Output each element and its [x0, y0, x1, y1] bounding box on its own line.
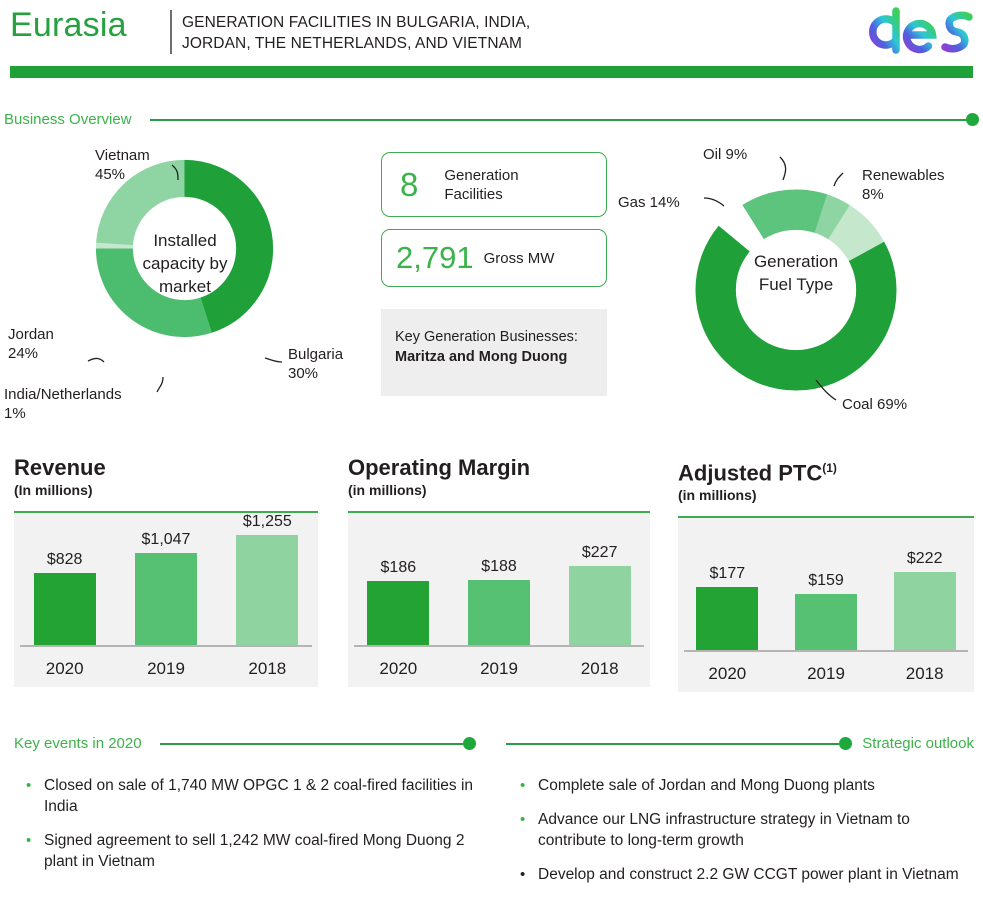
donut-capacity-label-bulgaria: Bulgaria 30% [288, 345, 343, 383]
section-rule [160, 743, 463, 745]
label-pct-india-netherlands: 1% [4, 405, 26, 422]
bar-col-2020: $186 [348, 515, 449, 645]
list-item-text: Signed agreement to sell 1,242 MW coal-f… [44, 830, 476, 872]
center-line-3: market [110, 275, 260, 298]
center-line-2: capacity by [110, 252, 260, 275]
key-generation-businesses-box: Key Generation Businesses: Maritza and M… [381, 309, 607, 396]
subtitle-line-1: GENERATION FACILITIES IN BULGARIA, INDIA… [182, 12, 530, 33]
bullet-icon: • [520, 809, 538, 851]
section-header-business-overview: Business Overview [4, 111, 979, 128]
list-item-text: Develop and construct 2.2 GW CCGT power … [538, 864, 959, 885]
bar-value-2019: $159 [808, 572, 844, 590]
x-axis-labels: 2020 2019 2018 [14, 659, 318, 679]
donut-capacity-center-label: Installed capacity by market [110, 229, 260, 298]
slide-root: Eurasia GENERATION FACILITIES IN BULGARI… [0, 0, 983, 910]
label-name-renewables: Renewables [862, 167, 945, 184]
list-item-text: Closed on sale of 1,740 MW OPGC 1 & 2 co… [44, 775, 476, 817]
bar-col-2018: $222 [875, 520, 974, 650]
bullet-icon: • [26, 830, 44, 872]
x-label-2020: 2020 [14, 659, 115, 679]
bar-col-2019: $188 [449, 515, 550, 645]
bar-value-2020: $177 [710, 565, 746, 583]
list-item: • Develop and construct 2.2 GW CCGT powe… [520, 864, 980, 885]
chart-title-text: Adjusted PTC [678, 460, 822, 485]
center-line-1: Generation [712, 250, 880, 273]
center-line-1: Installed [110, 229, 260, 252]
chart-subtitle-operating-margin: (in millions) [348, 482, 650, 498]
bullet-icon: • [26, 775, 44, 817]
x-label-2018: 2018 [549, 659, 650, 679]
bar-value-2018: $222 [907, 550, 943, 568]
bar-2020 [696, 587, 758, 650]
bar-chart-revenue: Revenue (In millions) $828 $1,047 $1,255 [14, 455, 318, 687]
bar-2020 [367, 581, 429, 645]
label-pct-bulgaria: 30% [288, 365, 318, 382]
bar-2020 [34, 573, 96, 645]
bar-value-2020: $828 [47, 551, 83, 569]
chart-subtitle-revenue: (In millions) [14, 482, 318, 498]
list-item: • Advance our LNG infrastructure strateg… [520, 809, 980, 851]
section-header-key-events: Key events in 2020 [14, 735, 476, 752]
bar-value-2018: $227 [582, 544, 618, 562]
bar-2019 [795, 594, 857, 650]
key-businesses-names: Maritza and Mong Duong [395, 349, 567, 365]
label-name-jordan: Jordan [8, 326, 54, 343]
x-label-2020: 2020 [678, 664, 777, 684]
section-label: Strategic outlook [862, 735, 974, 752]
donut-fuel-label-coal: Coal 69% [842, 395, 907, 414]
center-line-2: Fuel Type [712, 273, 880, 296]
page-title: Eurasia [10, 6, 127, 45]
key-events-list: • Closed on sale of 1,740 MW OPGC 1 & 2 … [26, 775, 476, 885]
bar-col-2018: $227 [549, 515, 650, 645]
bar-col-2018: $1,255 [217, 515, 318, 645]
x-label-2019: 2019 [115, 659, 216, 679]
bar-2018 [894, 572, 956, 650]
chart-title-footnote-marker: (1) [822, 461, 837, 475]
key-businesses-prefix: Key Generation Businesses: [395, 329, 578, 345]
label-name-india-netherlands: India/Netherlands [4, 386, 122, 403]
section-rule [506, 743, 839, 745]
label-name-vietnam: Vietnam [95, 147, 150, 164]
x-axis-line [354, 645, 644, 647]
bar-chart-adjusted-ptc: Adjusted PTC(1) (in millions) $177 $159 … [678, 455, 974, 692]
header-accent-band [10, 66, 973, 78]
donut-fuel-label-gas: Gas 14% [618, 193, 680, 212]
label-pct-vietnam: 45% [95, 166, 125, 183]
kpi-gross-mw: 2,791 Gross MW [381, 229, 607, 287]
bullet-icon: • [520, 864, 538, 885]
bar-value-2020: $186 [381, 559, 417, 577]
list-item-text: Complete sale of Jordan and Mong Duong p… [538, 775, 875, 796]
donut-fuel-label-oil: Oil 9% [703, 145, 747, 164]
title-divider [170, 10, 172, 54]
bar-value-2019: $188 [481, 558, 517, 576]
donut-capacity-label-jordan: Jordan 24% [8, 325, 54, 363]
list-item: • Closed on sale of 1,740 MW OPGC 1 & 2 … [26, 775, 476, 817]
x-label-2018: 2018 [217, 659, 318, 679]
list-item: • Complete sale of Jordan and Mong Duong… [520, 775, 980, 796]
bar-col-2020: $828 [14, 515, 115, 645]
bar-2019 [468, 580, 530, 645]
bar-col-2020: $177 [678, 520, 777, 650]
section-end-dot-icon [463, 737, 476, 750]
kpi-facilities-value: 8 [400, 166, 418, 204]
bar-value-2018: $1,255 [243, 513, 292, 531]
x-axis-labels: 2020 2019 2018 [678, 664, 974, 684]
chart-title-operating-margin: Operating Margin [348, 455, 650, 481]
bar-2019 [135, 553, 197, 645]
list-item: • Signed agreement to sell 1,242 MW coal… [26, 830, 476, 872]
x-label-2020: 2020 [348, 659, 449, 679]
kpi-facilities-label: Generation Facilities [444, 166, 518, 204]
chart-subtitle-adjusted-ptc: (in millions) [678, 487, 974, 503]
bar-chart-operating-margin: Operating Margin (in millions) $186 $188… [348, 455, 650, 687]
section-end-dot-icon [839, 737, 852, 750]
page-subtitle: GENERATION FACILITIES IN BULGARIA, INDIA… [182, 12, 530, 54]
donut-fuel-label-renewables: Renewables 8% [862, 166, 977, 204]
section-end-dot-icon [966, 113, 979, 126]
section-label: Business Overview [4, 111, 132, 128]
section-header-strategic-outlook: Strategic outlook [506, 735, 974, 752]
x-axis-labels: 2020 2019 2018 [348, 659, 650, 679]
label-name-bulgaria: Bulgaria [288, 346, 343, 363]
subtitle-line-2: JORDAN, THE NETHERLANDS, AND VIETNAM [182, 33, 530, 54]
chart-title-adjusted-ptc: Adjusted PTC(1) [678, 455, 974, 486]
bar-2018 [236, 535, 298, 645]
label-pct-renewables: 8% [862, 186, 884, 203]
x-axis-line [20, 645, 312, 647]
kpi-generation-facilities: 8 Generation Facilities [381, 152, 607, 217]
chart-title-revenue: Revenue [14, 455, 318, 481]
x-label-2019: 2019 [449, 659, 550, 679]
section-rule [150, 119, 966, 121]
list-item-text: Advance our LNG infrastructure strategy … [538, 809, 980, 851]
x-label-2018: 2018 [875, 664, 974, 684]
aes-logo-icon [865, 4, 975, 56]
plot-area-operating-margin: $186 $188 $227 2020 2019 2018 [348, 511, 650, 687]
bar-col-2019: $159 [777, 520, 876, 650]
x-label-2019: 2019 [777, 664, 876, 684]
donut-fuel-center-label: Generation Fuel Type [712, 250, 880, 296]
strategic-outlook-list: • Complete sale of Jordan and Mong Duong… [520, 775, 980, 898]
kpi-facilities-label-line1: Generation [444, 167, 518, 184]
kpi-gross-mw-label: Gross MW [484, 249, 555, 268]
x-axis-line [684, 650, 968, 652]
kpi-facilities-label-line2: Facilities [444, 186, 502, 203]
bar-col-2019: $1,047 [115, 515, 216, 645]
kpi-gross-mw-value: 2,791 [396, 240, 474, 276]
bullet-icon: • [520, 775, 538, 796]
plot-area-revenue: $828 $1,047 $1,255 2020 2019 2018 [14, 511, 318, 687]
plot-area-adjusted-ptc: $177 $159 $222 2020 2019 2018 [678, 516, 974, 692]
donut-capacity-label-vietnam: Vietnam 45% [95, 146, 150, 184]
section-label: Key events in 2020 [14, 735, 142, 752]
label-pct-jordan: 24% [8, 345, 38, 362]
bar-value-2019: $1,047 [142, 531, 191, 549]
donut-capacity-label-india-netherlands: India/Netherlands 1% [4, 385, 122, 423]
bar-2018 [569, 566, 631, 645]
